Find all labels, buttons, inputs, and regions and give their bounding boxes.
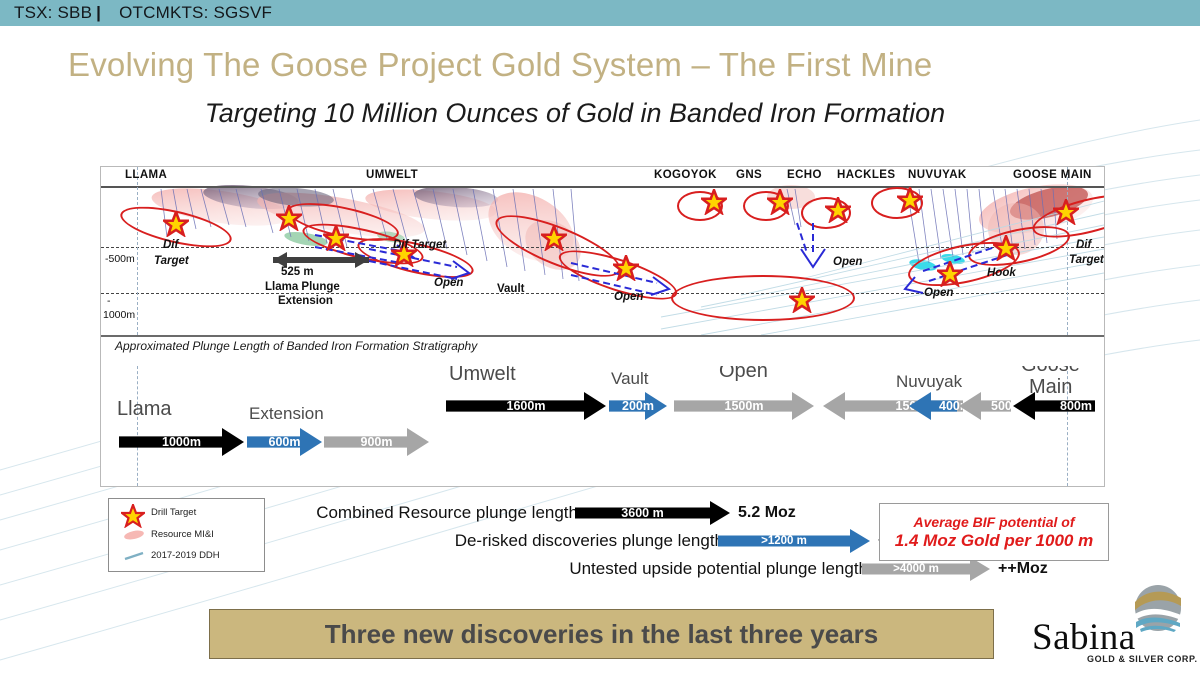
plunge-arrow-value: 900m <box>324 428 451 456</box>
plunge-arrow-group-label: Extension <box>249 404 324 424</box>
cross-section-annotation: 525 m <box>281 266 314 279</box>
star-icon <box>993 235 1019 261</box>
plunge-arrow-group-label: Open <box>719 366 768 383</box>
bif-potential-callout: Average BIF potential of 1.4 Moz Gold pe… <box>879 503 1109 561</box>
cross-section-annotation: Dif <box>1076 239 1091 252</box>
plunge-arrow: 1600m <box>446 392 606 420</box>
page-title: Evolving The Goose Project Gold System –… <box>68 46 1128 84</box>
cross-section-annotation: Target <box>154 255 189 268</box>
summary-row-arrow-value: >1200 m <box>718 529 850 553</box>
bif-line-1: Average BIF potential of <box>913 514 1074 530</box>
summary-row-arrow-value: 3600 m <box>575 501 710 525</box>
plunge-arrow: 1500m <box>674 392 814 420</box>
bif-line-2: 1.4 Moz Gold per 1000 m <box>895 531 1093 551</box>
company-logo: Sabina GOLD & SILVER CORP. <box>1020 588 1195 672</box>
star-icon <box>1053 199 1079 225</box>
bottom-banner: Three new discoveries in the last three … <box>209 609 994 659</box>
star-icon <box>613 255 639 281</box>
star-icon <box>897 187 923 213</box>
plunge-arrow: 600m <box>247 428 322 456</box>
summary-row-moz: 5.2 Moz <box>738 500 796 526</box>
plunge-arrow: 400m <box>909 392 957 420</box>
summary-row-arrow: 3600 m <box>575 501 730 525</box>
cross-section-annotation: Hook <box>987 267 1016 280</box>
summary-row-label: De-risked discoveries plunge length <box>0 528 724 554</box>
logo-tagline: GOLD & SILVER CORP. <box>1087 654 1198 664</box>
star-icon <box>825 197 851 223</box>
cross-section-annotation: Open <box>833 256 862 269</box>
cross-section-annotation: Llama Plunge <box>265 281 340 294</box>
plunge-arrow: 200m <box>609 392 667 420</box>
summary-row-label: Combined Resource plunge length <box>0 500 578 526</box>
plunge-arrow-group-label: Nuvuyak <box>896 372 962 392</box>
ticker-bar: TSX: SBB | OTCMKTS: SGSVF <box>0 0 1200 26</box>
cross-section-annotation: Open <box>924 287 953 300</box>
ticker-exchange-tsx: TSX: SBB <box>0 3 92 23</box>
star-icon <box>541 225 567 251</box>
star-icon <box>937 261 963 287</box>
ticker-exchange-otc: OTCMKTS: SGSVF <box>105 3 272 23</box>
plunge-arrow-value: 1500m <box>674 392 836 420</box>
slide-root: TSX: SBB | OTCMKTS: SGSVF Evolving The G… <box>0 0 1200 675</box>
plunge-arrow: 900m <box>324 428 429 456</box>
plunge-arrow-group-label: Umwelt <box>449 366 516 386</box>
plunge-arrow-value: 1000m <box>119 428 266 456</box>
plunge-arrow-value: 1600m <box>446 392 628 420</box>
cross-section-plot: LLAMAUMWELTKOGOYOKGNSECHOHACKLESNUVUYAKG… <box>101 167 1104 337</box>
star-icon <box>163 211 189 237</box>
cross-section-annotation: Dif Target <box>393 239 446 252</box>
cross-section-annotation: Extension <box>278 295 333 308</box>
plunge-arrow: 1000m <box>119 428 244 456</box>
star-icon <box>767 189 793 215</box>
plunge-length-chart: 1000m600m900m1600m200m1500m1500m400m500m… <box>100 366 1105 487</box>
star-icon <box>701 189 727 215</box>
star-icon <box>789 287 815 313</box>
ticker-separator: | <box>92 3 105 23</box>
cross-section-annotation: Open <box>434 277 463 290</box>
extension-arrow-group <box>101 167 1104 335</box>
star-icon <box>323 225 349 251</box>
cross-section-annotation: Dif <box>163 239 178 252</box>
chart-guide-left <box>137 366 138 486</box>
cross-section-annotation: Open <box>614 291 643 304</box>
bottom-banner-text: Three new discoveries in the last three … <box>325 619 878 650</box>
plunge-arrow-group-label: Vault <box>611 369 649 389</box>
logo-mark-icon <box>1130 584 1186 636</box>
plunge-arrow-group-label: Main <box>1029 376 1072 399</box>
cross-section-caption: Approximated Plunge Length of Banded Iro… <box>115 339 477 353</box>
plunge-arrow-group-label: Llama <box>117 398 171 421</box>
cross-section-panel: LLAMAUMWELTKOGOYOKGNSECHOHACKLESNUVUYAKG… <box>100 166 1105 368</box>
llama-plunge-extension-arrow <box>261 249 381 271</box>
page-subtitle: Targeting 10 Million Ounces of Gold in B… <box>0 98 1150 129</box>
plunge-arrow: 500m <box>959 392 1011 420</box>
cross-section-annotation: Vault <box>497 283 524 296</box>
summary-row-arrow: >1200 m <box>718 529 870 553</box>
summary-row-label: Untested upside potential plunge length <box>0 556 868 582</box>
cross-section-annotation: Target <box>1069 254 1104 267</box>
star-icon <box>276 205 302 231</box>
logo-wordmark: Sabina <box>1032 616 1136 659</box>
